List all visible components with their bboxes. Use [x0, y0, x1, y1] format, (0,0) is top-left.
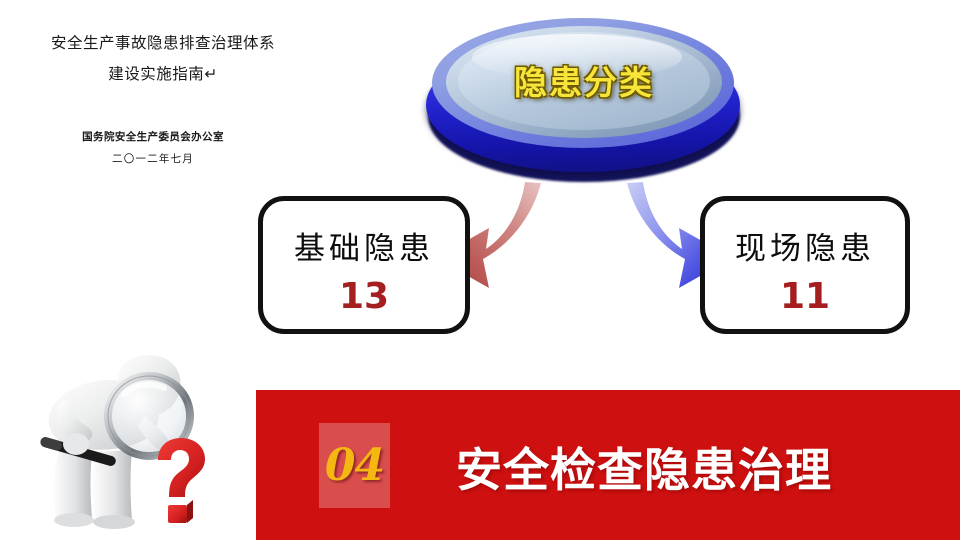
slide-canvas: 安全生产事故隐患排查治理体系 建设实施指南↵ 国务院安全生产委员会办公室 二〇一…: [0, 0, 960, 540]
question-mark-icon: [158, 438, 205, 523]
category-name: 基础隐患: [263, 223, 465, 268]
figure-legs: [53, 450, 135, 529]
category-count: 11: [705, 276, 905, 317]
document-issuer: 国务院安全生产委员会办公室: [8, 126, 298, 148]
document-title: 安全生产事故隐患排查治理体系 建设实施指南↵: [8, 28, 318, 90]
inspector-figure-svg: [18, 340, 254, 540]
classification-disc: 隐患分类: [424, 12, 744, 190]
section-banner: 04 安全检查隐患治理: [256, 390, 960, 540]
category-box-onsite-hazard[interactable]: 现场隐患 11: [700, 196, 910, 334]
figure-hand: [63, 433, 89, 455]
document-title-line-1: 安全生产事故隐患排查治理体系: [8, 28, 318, 59]
document-attribution: 国务院安全生产委员会办公室 二〇一二年七月: [8, 126, 298, 170]
section-number: 04: [325, 440, 384, 491]
section-number-badge: 04: [319, 423, 390, 508]
inspector-figure: [18, 340, 254, 540]
category-name: 现场隐患: [705, 223, 905, 268]
category-count: 13: [263, 276, 465, 317]
disc-label: 隐患分类: [424, 56, 744, 104]
section-title: 安全检查隐患治理: [456, 424, 832, 509]
category-box-basic-hazard[interactable]: 基础隐患 13: [258, 196, 470, 334]
document-title-line-2: 建设实施指南↵: [8, 59, 318, 90]
document-date: 二〇一二年七月: [8, 148, 298, 170]
